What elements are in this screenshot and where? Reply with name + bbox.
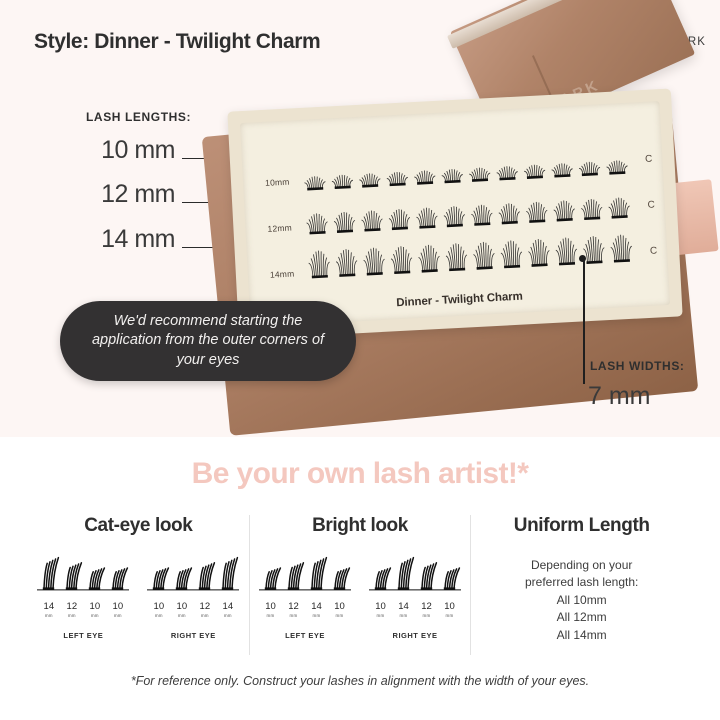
lash-tray-inner: 10mm 12mm 14mm C C C Dinner - Tw [240,101,670,327]
lash-length-label: 12mm [200,597,211,619]
lash-length-value: 10 [177,601,188,612]
section-headline: Be your own lash artist!* [0,457,720,491]
lash-length-value: 12 [200,601,211,612]
lash-length-value: 10 [154,601,165,612]
footnote: *For reference only. Construct your lash… [0,674,720,688]
eye-diagram-pair: 14mm12mm10mm10mm LEFT EYE 10mm10mm12mm14… [28,555,249,640]
lash-length-value: 10 [334,601,345,612]
tray-row-label-14mm: 14mm [270,268,295,279]
lash-length-unit: mm [154,614,165,619]
lash-lengths-label: LASH LENGTHS: [86,110,191,124]
text-line: All 10mm [471,592,692,609]
lash-length-value: 10 [90,601,101,612]
eye-diagram-pair: 10mm12mm14mm10mm LEFT EYE 10mm14mm12mm10… [250,555,471,640]
lash-cluster-row-14mm [305,231,636,282]
lash-diagram [147,555,239,595]
eye-side-label: RIGHT EYE [369,631,461,640]
curl-marker-row-1: C [645,154,653,165]
infographic-page: Style: Dinner - Twilight Charm NODSPARK … [0,0,720,720]
lash-length-label: 10mm [444,597,455,619]
lash-length-label: 14mm [311,597,322,619]
lash-length-unit: mm [67,614,78,619]
lash-length-label: 10mm [265,597,276,619]
lash-length-value: 14 [223,601,234,612]
recommendation-tooltip: We'd recommend starting the application … [60,301,356,381]
lash-length-value: 14 [311,601,322,612]
column-bright-look: Bright look 10mm12mm14mm10mm LEFT EYE 10… [249,515,471,655]
lash-length-unit: mm [90,614,101,619]
lash-length-unit: mm [334,614,345,619]
lash-length-numbers: 10mm14mm12mm10mm [369,597,461,619]
lash-length-value: 10 [444,601,455,612]
text-line: All 12mm [471,609,692,626]
eye-block-right: 10mm14mm12mm10mm RIGHT EYE [369,555,461,640]
column-cat-eye-look: Cat-eye look 14mm12mm10mm10mm LEFT EYE 1… [28,515,249,655]
lash-length-unit: mm [265,614,276,619]
lash-length-unit: mm [177,614,188,619]
lash-length-label: 12mm [421,597,432,619]
lash-length-value: 12 [67,601,78,612]
uniform-length-body: Depending on yourpreferred lash length:A… [471,557,692,644]
lash-length-label: 10mm [334,597,345,619]
lash-length-unit: mm [288,614,299,619]
tray-row-label-12mm: 12mm [267,223,292,234]
lash-length-value: 14 [44,601,55,612]
lash-diagram [259,555,351,595]
eye-block-left: 14mm12mm10mm10mm LEFT EYE [37,555,129,640]
column-title: Cat-eye look [28,515,249,537]
lash-length-label: 10mm [113,597,124,619]
column-title: Uniform Length [471,515,692,537]
lash-length-label: 10mm [154,597,165,619]
width-leader-line [583,258,585,384]
lash-length-unit: mm [200,614,211,619]
lash-length-label: 14mm [223,597,234,619]
lash-length-value: 12 [421,601,432,612]
lash-widths-label: LASH WIDTHS: [590,359,685,373]
lash-length-label: 10mm [177,597,188,619]
eye-side-label: LEFT EYE [259,631,351,640]
curl-marker-row-3: C [650,245,658,256]
lash-length-label: 10mm [375,597,386,619]
lash-length-label: 14mm [44,597,55,619]
lash-cluster-row-12mm [302,187,633,238]
lash-length-numbers: 10mm12mm14mm10mm [259,597,351,619]
look-columns: Cat-eye look 14mm12mm10mm10mm LEFT EYE 1… [28,515,692,655]
lash-length-numbers: 10mm10mm12mm14mm [147,597,239,619]
tray-row-label-10mm: 10mm [265,177,290,188]
lash-length-unit: mm [113,614,124,619]
text-line: All 14mm [471,627,692,644]
lash-length-unit: mm [375,614,386,619]
lash-diagram [369,555,461,595]
lash-length-value: 10 [265,601,276,612]
curl-marker-row-2: C [647,200,655,211]
lash-length-value: 10 [113,601,124,612]
eye-side-label: RIGHT EYE [147,631,239,640]
lash-width-value: 7 mm [588,382,651,411]
lash-length-label: 10mm [90,597,101,619]
lash-length-label: 12mm [288,597,299,619]
lash-length-numbers: 14mm12mm10mm10mm [37,597,129,619]
text-line: preferred lash length: [471,574,692,591]
lash-length-unit: mm [223,614,234,619]
eye-block-right: 10mm10mm12mm14mm RIGHT EYE [147,555,239,640]
lash-length-value: 12 [288,601,299,612]
lash-length-unit: mm [421,614,432,619]
lash-cluster-row-10mm [300,143,631,194]
eye-block-left: 10mm12mm14mm10mm LEFT EYE [259,555,351,640]
lash-length-value: 10 [375,601,386,612]
lash-length-unit: mm [44,614,55,619]
lash-length-label: 12mm [67,597,78,619]
column-uniform-length: Uniform Length Depending on yourpreferre… [470,515,692,655]
lash-length-unit: mm [444,614,455,619]
lash-length-unit: mm [398,614,409,619]
length-callout-12mm: 12 mm [35,180,175,209]
length-callout-10mm: 10 mm [35,136,175,165]
lash-length-label: 14mm [398,597,409,619]
text-line: Depending on your [471,557,692,574]
eye-side-label: LEFT EYE [37,631,129,640]
lash-length-unit: mm [311,614,322,619]
lash-artist-section: Be your own lash artist!* Cat-eye look 1… [0,437,720,720]
lash-length-value: 14 [398,601,409,612]
recommendation-tooltip-text: We'd recommend starting the application … [60,312,356,371]
column-title: Bright look [250,515,471,537]
product-detail-section: Style: Dinner - Twilight Charm NODSPARK … [0,0,720,437]
lash-diagram [37,555,129,595]
length-callout-14mm: 14 mm [35,225,175,254]
